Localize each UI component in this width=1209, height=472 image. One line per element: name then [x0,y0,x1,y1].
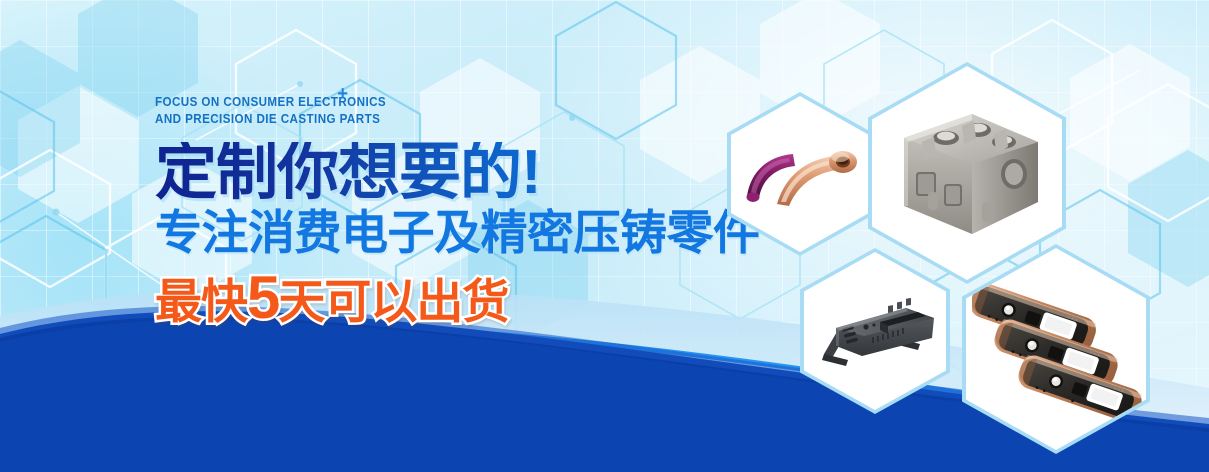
promo-text: 最快5天可以出货 [155,268,760,328]
product-image-enclosure-bracket [814,298,944,380]
hex-photo-area [966,248,1146,450]
subtitle: 专注消费电子及精密压铸零件 [155,208,760,258]
eyebrow-line-2: AND PRECISION DIE CASTING PARTS [155,111,717,128]
product-image-engine-block [886,98,1054,250]
promo-number: 5 [247,264,278,331]
promo-prefix: 最快 [155,275,247,328]
eyebrow-line-1: FOCUS ON CONSUMER ELECTRONICS + [155,94,717,111]
promo-suffix: 天可以出货 [278,275,508,328]
promotional-banner: FOCUS ON CONSUMER ELECTRONICS + AND PREC… [0,0,1209,472]
product-image-phone-housings [972,268,1146,438]
eyebrow-text-1: FOCUS ON CONSUMER ELECTRONICS [155,95,386,109]
product-image-curved-handle-parts [739,132,869,224]
page-title: 定制你想要的! [155,142,760,204]
product-hex-phone-housings [962,244,1150,454]
product-hex-curved-handle-parts [727,92,873,256]
product-hex-enclosure-bracket [800,248,950,414]
headline-text-block: FOCUS ON CONSUMER ELECTRONICS + AND PREC… [155,94,760,328]
plus-icon: + [337,84,348,104]
